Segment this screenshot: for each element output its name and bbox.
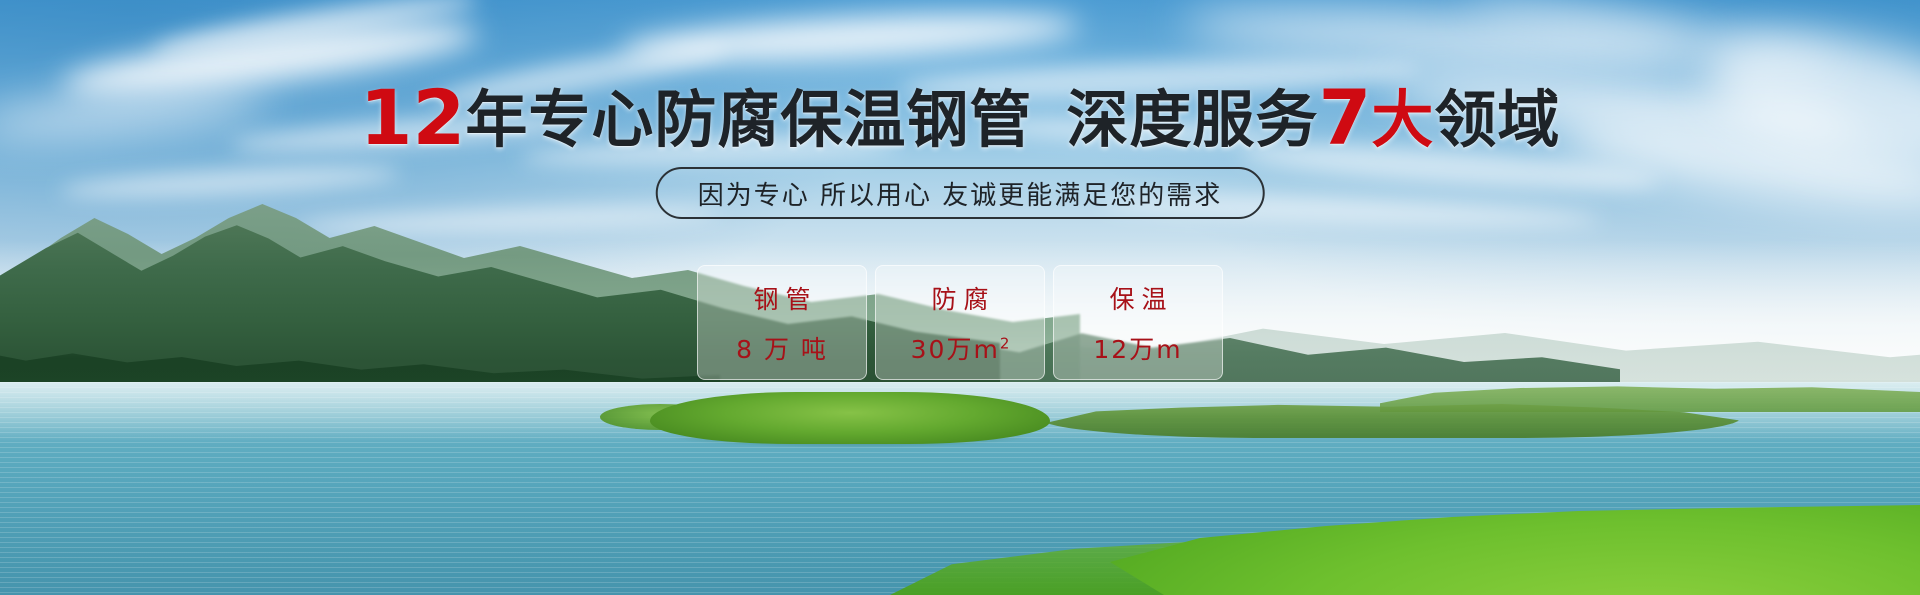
stats-card-insulation[interactable]: 保温 12万m	[1053, 265, 1223, 380]
headline-part-one: 年专心防腐保温钢管	[465, 83, 1032, 156]
stats-card-label: 防腐	[924, 280, 995, 316]
headline-part-two: 深度服务	[1066, 83, 1318, 156]
stats-card-value-main: 12万m	[1093, 335, 1182, 364]
stats-card-value-main: 8 万 吨	[736, 335, 828, 364]
stats-card-steel-pipe[interactable]: 钢管 8 万 吨	[697, 265, 867, 380]
banner-content: 12年专心防腐保温钢管深度服务7大领域 因为专心 所以用心 友诚更能满足您的需求…	[0, 0, 1920, 595]
headline-years-number: 12	[360, 73, 466, 162]
stats-card-label: 保温	[1102, 280, 1173, 316]
stats-card-value: 8 万 吨	[736, 330, 828, 366]
headline-fields-number: 7	[1318, 73, 1371, 162]
headline-part-three: 大	[1371, 83, 1434, 156]
stats-card-value: 12万m	[1093, 330, 1182, 366]
hero-banner: 12年专心防腐保温钢管深度服务7大领域 因为专心 所以用心 友诚更能满足您的需求…	[0, 0, 1920, 595]
stats-card-value-superscript: 2	[1000, 334, 1010, 352]
stats-card-value-main: 30万m	[911, 335, 1000, 364]
stats-card-label: 钢管	[746, 280, 817, 316]
stats-card-group: 钢管 8 万 吨 防腐 30万m2 保温 12万m	[697, 265, 1223, 380]
headline-part-four: 领域	[1434, 83, 1560, 156]
banner-subtitle-pill: 因为专心 所以用心 友诚更能满足您的需求	[656, 167, 1265, 219]
banner-headline: 12年专心防腐保温钢管深度服务7大领域	[0, 80, 1920, 156]
banner-subtitle-text: 因为专心 所以用心 友诚更能满足您的需求	[698, 175, 1223, 212]
stats-card-anticorrosion[interactable]: 防腐 30万m2	[875, 265, 1045, 380]
stats-card-value: 30万m2	[911, 330, 1010, 366]
